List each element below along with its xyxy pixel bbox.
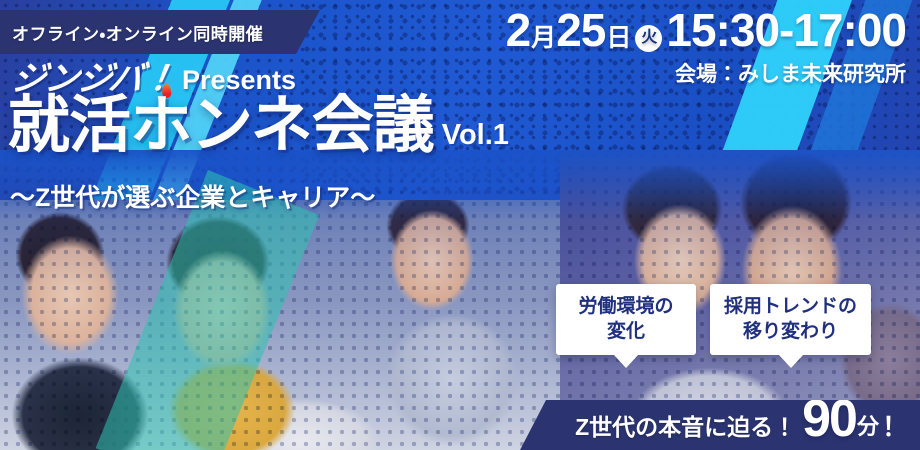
topic-badge: 労働環境の 変化 <box>556 284 696 355</box>
topic-badge-label: 採用トレンドの 移り変わり <box>724 294 857 344</box>
event-day-unit: 日 <box>605 25 631 51</box>
footer-bar: Z世代の本音に迫る！ 90 分 ！ <box>520 400 920 450</box>
footer-duration-unit: 分 <box>857 409 879 441</box>
event-month-unit: 月 <box>530 25 556 51</box>
topic-badge: 採用トレンドの 移り変わり <box>710 284 871 355</box>
event-venue: 会場：みしま未来研究所 <box>506 58 906 88</box>
presents-label: Presents <box>182 67 296 94</box>
event-subtitle: 〜Z世代が選ぶ企業とキャリア〜 <box>10 178 375 214</box>
event-banner: オフライン・オンライン同時開催 2 月 25 日 火 15:30-17:00 会… <box>0 0 920 450</box>
event-day-number: 25 <box>556 6 605 54</box>
format-ribbon-label: オフライン・オンライン同時開催 <box>12 20 263 45</box>
title-row: 就活ホンネ会議 Vol.1 <box>8 95 509 157</box>
topic-badge-label: 労働環境の 変化 <box>570 294 682 344</box>
event-title: 就活ホンネ会議 <box>8 95 434 157</box>
event-weekday-badge: 火 <box>635 25 662 52</box>
event-date-time-line: 2 月 25 日 火 15:30-17:00 <box>506 6 906 56</box>
event-volume: Vol.1 <box>442 121 509 150</box>
event-schedule: 2 月 25 日 火 15:30-17:00 会場：みしま未来研究所 <box>506 6 906 88</box>
footer-tagline: Z世代の本音に迫る！ <box>575 408 796 442</box>
footer-duration-number: 90 <box>802 397 856 442</box>
event-month-number: 2 <box>506 6 531 54</box>
event-time-range: 15:30-17:00 <box>666 6 906 54</box>
format-ribbon: オフライン・オンライン同時開催 <box>0 10 320 54</box>
footer-exclamation: ！ <box>882 407 908 444</box>
topic-badge-group: 労働環境の 変化 採用トレンドの 移り変わり <box>556 284 871 355</box>
